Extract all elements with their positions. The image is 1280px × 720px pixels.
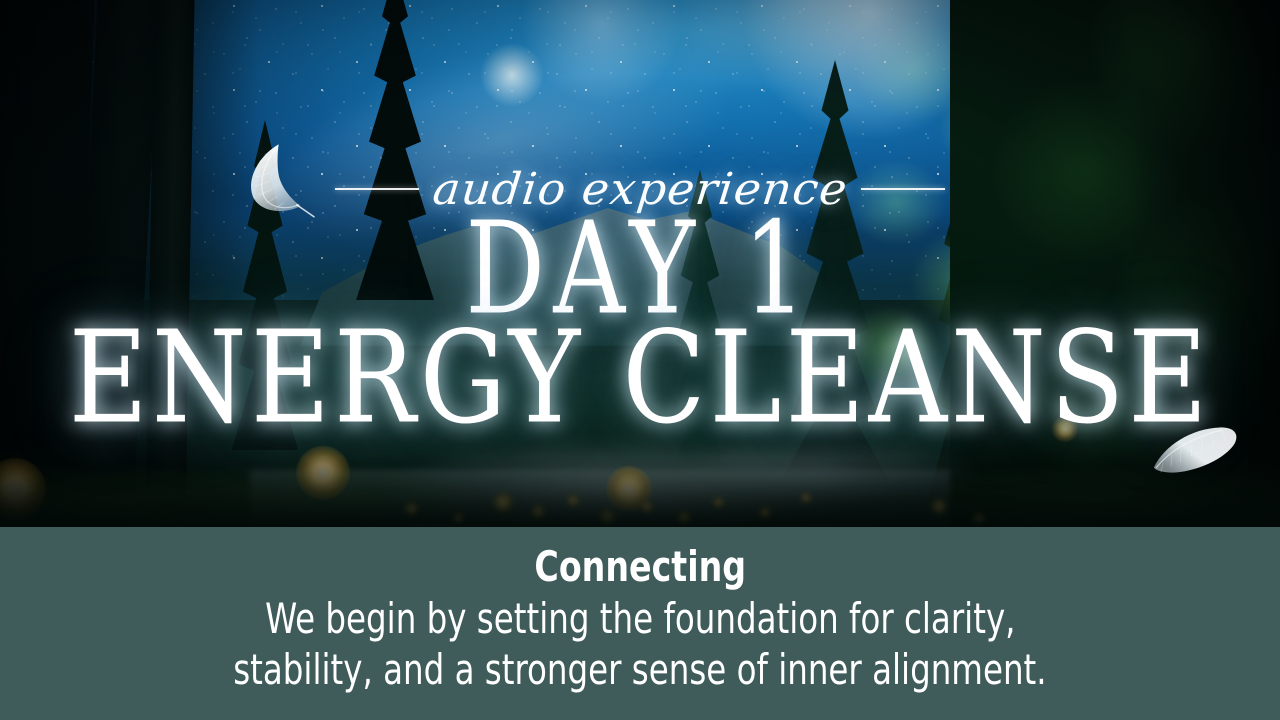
divider-dash-right [861, 188, 945, 190]
caption-line-2: stability, and a stronger sense of inner… [233, 644, 1046, 695]
divider-dash-left [335, 188, 419, 190]
caption-line-1: We begin by setting the foundation for c… [265, 593, 1015, 644]
caption-heading: Connecting [534, 545, 746, 589]
caption-panel: Connecting We begin by setting the found… [0, 527, 1280, 720]
slide-canvas: audio experience DAY 1 ENERGY CLEANSE Co… [0, 0, 1280, 720]
hero-title-block: audio experience DAY 1 ENERGY CLEANSE [0, 0, 1280, 527]
page-title: ENERGY CLEANSE [19, 314, 1261, 442]
